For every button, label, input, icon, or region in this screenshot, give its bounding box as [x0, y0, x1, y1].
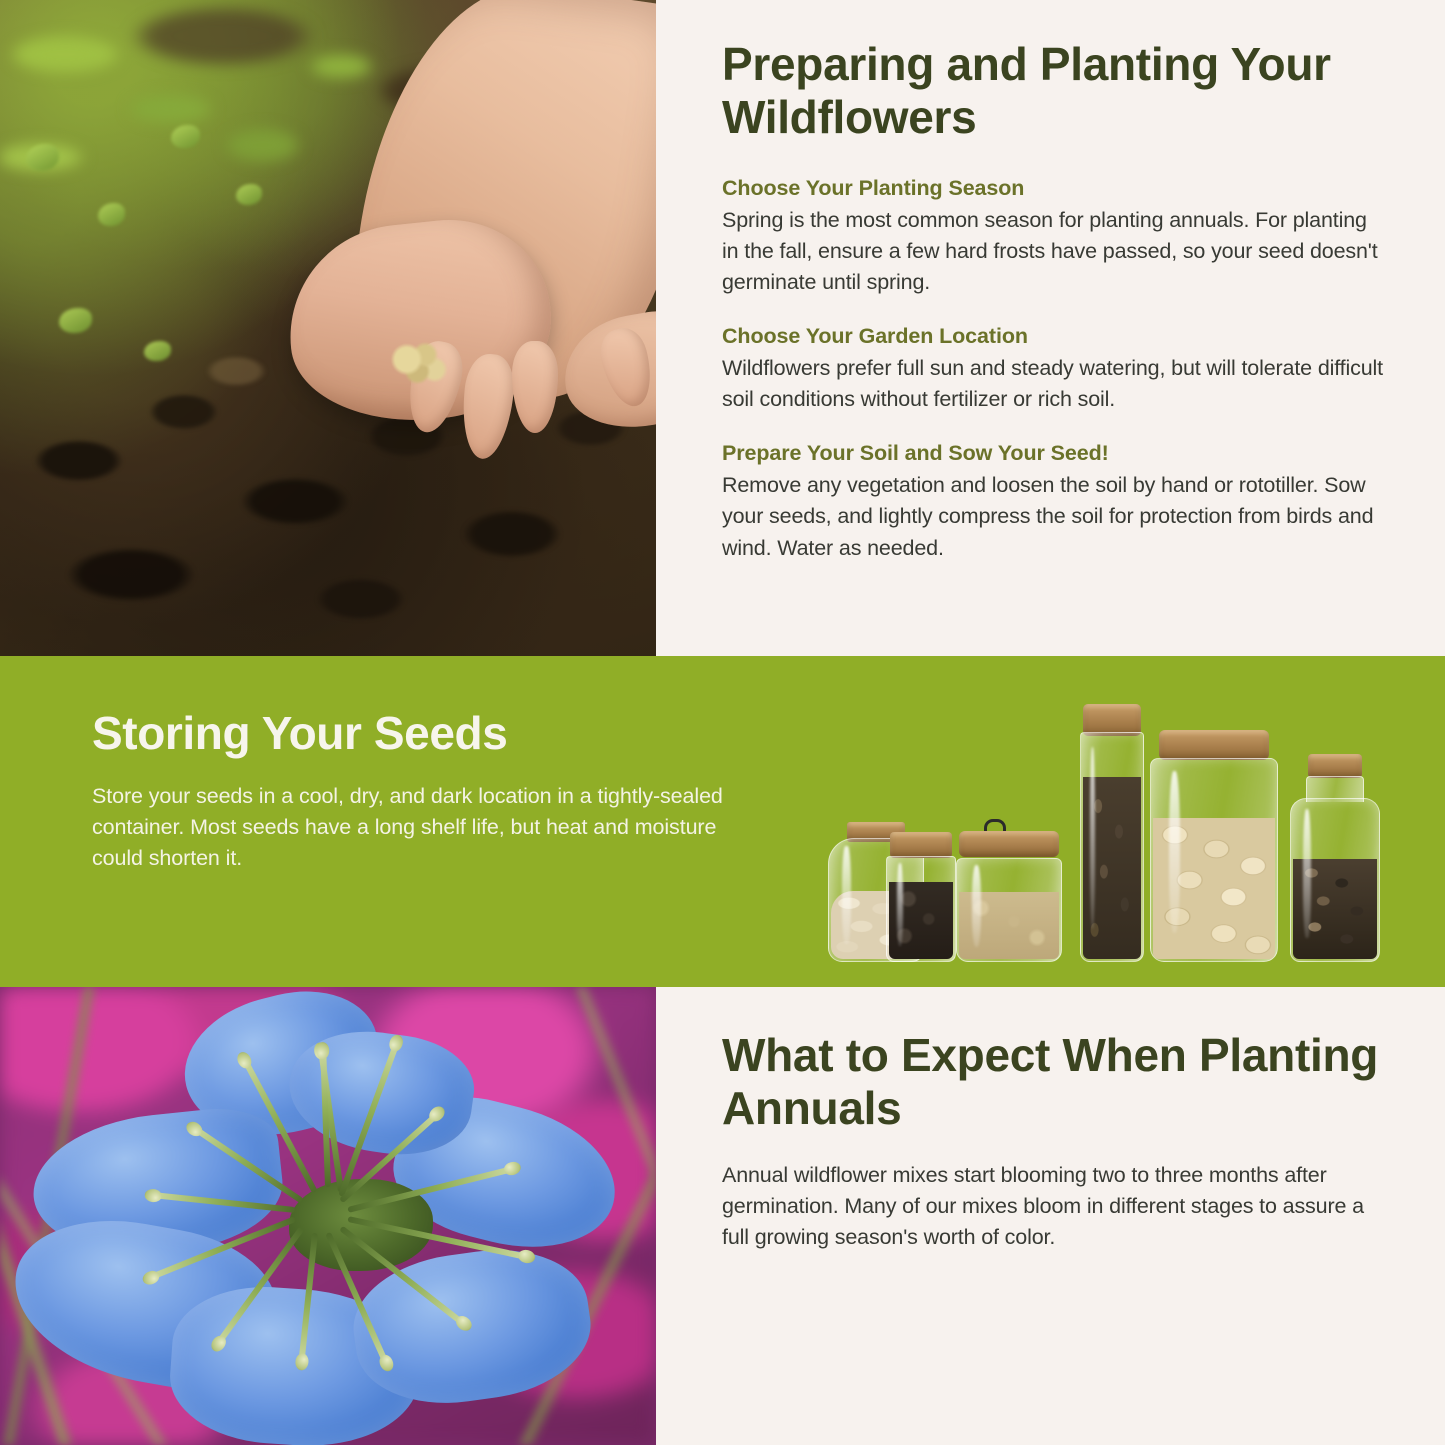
black-seed-jar [886, 832, 956, 962]
body-planting-season: Spring is the most common season for pla… [722, 205, 1387, 299]
cork-lid-icon [890, 832, 952, 858]
planting-block-soil: Prepare Your Soil and Sow Your Seed! Rem… [722, 440, 1387, 563]
page-title-planting: Preparing and Planting Your Wildflowers [722, 38, 1387, 145]
glass-highlight [1169, 771, 1180, 933]
blue-nigella-flower-photo [0, 987, 656, 1445]
planting-block-location: Choose Your Garden Location Wildflowers … [722, 323, 1387, 415]
planting-text-panel: Preparing and Planting Your Wildflowers … [656, 0, 1445, 656]
cork-lid-icon [1159, 730, 1269, 760]
glass-highlight [897, 863, 903, 946]
page-title-storing: Storing Your Seeds [92, 708, 732, 759]
jar-glass [1080, 732, 1144, 962]
body-prepare-soil: Remove any vegetation and loosen the soi… [722, 470, 1387, 564]
hand-sowing-seeds-photo [0, 0, 656, 656]
subheading-prepare-soil: Prepare Your Soil and Sow Your Seed! [722, 440, 1387, 467]
planting-block-season: Choose Your Planting Season Spring is th… [722, 175, 1387, 298]
body-garden-location: Wildflowers prefer full sun and steady w… [722, 353, 1387, 415]
cork-lid-icon [1308, 754, 1362, 778]
subheading-planting-season: Choose Your Planting Season [722, 175, 1387, 202]
seed-jars-photo [828, 692, 1388, 962]
page-title-annuals: What to Expect When Planting Annuals [722, 1029, 1387, 1136]
tall-dark-seed-tube [1080, 704, 1144, 962]
glass-highlight [842, 846, 850, 944]
glass-highlight [972, 865, 981, 947]
jar-glass [886, 856, 956, 962]
seeds-in-hand [387, 341, 453, 387]
annuals-text-panel: What to Expect When Planting Annuals Ann… [656, 987, 1445, 1445]
glass-highlight [1090, 747, 1096, 929]
infographic-page: Preparing and Planting Your Wildflowers … [0, 0, 1445, 1445]
sunflower-seed-jar [1290, 754, 1380, 962]
pumpkin-seed-jar [1150, 730, 1278, 962]
cork-lid-icon [959, 831, 1059, 857]
jar-glass [956, 858, 1062, 962]
sprout-icon [144, 341, 170, 361]
body-annuals: Annual wildflower mixes start blooming t… [722, 1160, 1387, 1254]
jar-glass [1150, 758, 1278, 962]
glass-highlight [1303, 809, 1311, 939]
sprout-icon [26, 144, 59, 170]
subheading-garden-location: Choose Your Garden Location [722, 323, 1387, 350]
jar-glass [1290, 798, 1380, 962]
fine-tan-seed-jar [956, 827, 1062, 962]
body-storing: Store your seeds in a cool, dry, and dar… [92, 781, 732, 875]
sprout-icon [98, 203, 124, 225]
storing-text-block: Storing Your Seeds Store your seeds in a… [92, 708, 732, 874]
